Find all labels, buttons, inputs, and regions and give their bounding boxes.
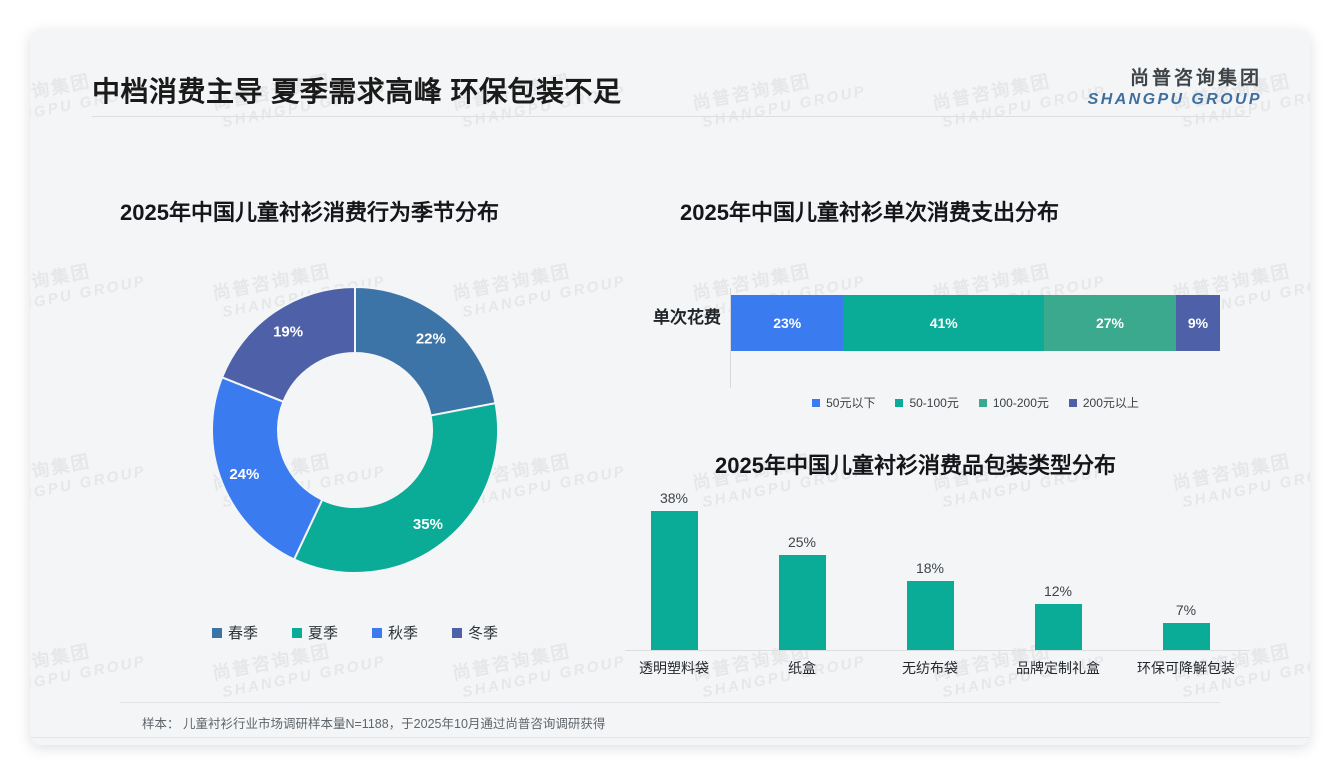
bar-rect[interactable] [1035,604,1082,650]
bar-rect[interactable] [779,555,826,650]
bar-value-label: 7% [1176,602,1196,618]
stacked-bar-segment[interactable]: 23% [731,295,843,351]
page-title: 中档消费主导 夏季需求高峰 环保包装不足 [92,70,622,110]
legend-item[interactable]: 50元以下 [812,394,875,411]
bar-category-label: 环保可降解包装 [1122,658,1250,678]
donut-segment[interactable] [355,287,495,416]
bar-rect[interactable] [907,581,954,650]
legend-label: 200元以上 [1083,394,1139,411]
legend-swatch-icon [212,628,222,638]
stacked-bar-segment[interactable]: 41% [843,295,1043,351]
season-distribution-chart: 2025年中国儿童衬衫消费行为季节分布 22%35%24%19% 春季夏季秋季冬… [90,170,620,670]
bar-column[interactable]: 18% [866,490,994,650]
legend-label: 春季 [228,622,258,643]
bar-rect[interactable] [1163,623,1210,650]
sample-footnote: 样本： 儿童衬衫行业市场调研样本量N=1188，于2025年10月通过尚普咨询调… [142,713,605,732]
slide-canvas: 尚普咨询集团SHANGPU GROUP尚普咨询集团SHANGPU GROUP尚普… [30,30,1310,745]
slide-header: 中档消费主导 夏季需求高峰 环保包装不足 尚普咨询集团 SHANGPU GROU… [30,30,1310,116]
legend-swatch-icon [895,399,903,407]
legend-label: 秋季 [388,622,418,643]
legend-item[interactable]: 秋季 [372,622,418,643]
packaging-chart-axis-line [625,650,1250,651]
donut-segment-label: 22% [416,330,446,347]
bar-column[interactable]: 12% [994,490,1122,650]
header-divider [92,116,1250,117]
legend-swatch-icon [292,628,302,638]
spend-category-label: 单次花费 [625,303,721,328]
legend-item[interactable]: 100-200元 [979,394,1049,411]
bar-column[interactable]: 38% [610,490,738,650]
bar-category-label: 纸盒 [738,658,866,678]
bar-column[interactable]: 7% [1122,490,1250,650]
legend-label: 冬季 [468,622,498,643]
legend-item[interactable]: 50-100元 [895,394,958,411]
packaging-bars-plot: 38%25%18%12%7% [610,490,1250,650]
donut-segment-label: 24% [229,466,259,483]
bar-value-label: 25% [788,534,816,550]
legend-swatch-icon [1069,399,1077,407]
bar-value-label: 18% [916,560,944,576]
legend-item[interactable]: 夏季 [292,622,338,643]
donut-segment-label: 19% [273,324,303,341]
legend-label: 50-100元 [909,394,958,411]
bar-rect[interactable] [651,511,698,650]
bar-category-label: 品牌定制礼盒 [994,658,1122,678]
logo-english-text: SHANGPU GROUP [1088,91,1262,109]
legend-swatch-icon [979,399,987,407]
donut-svg: 22%35%24%19% [210,285,500,575]
bar-value-label: 12% [1044,583,1072,599]
spend-chart-legend: 50元以下50-100元100-200元200元以上 [731,394,1220,411]
bar-category-label: 无纺布袋 [866,658,994,678]
spend-chart-title: 2025年中国儿童衬衫单次消费支出分布 [680,195,1059,227]
spend-distribution-chart: 2025年中国儿童衬衫单次消费支出分布 单次花费 23%41%27%9% 50元… [625,170,1265,430]
legend-item[interactable]: 春季 [212,622,258,643]
logo-chinese-text: 尚普咨询集团 [1088,63,1262,90]
brand-logo: 尚普咨询集团 SHANGPU GROUP [1088,63,1262,109]
donut-segment[interactable] [222,287,355,402]
stacked-bar-segment[interactable]: 27% [1044,295,1176,351]
legend-label: 夏季 [308,622,338,643]
legend-label: 50元以下 [826,394,875,411]
legend-swatch-icon [452,628,462,638]
legend-swatch-icon [812,399,820,407]
footer-divider [30,737,1310,738]
bar-category-label: 透明塑料袋 [610,658,738,678]
packaging-category-labels: 透明塑料袋纸盒无纺布袋品牌定制礼盒环保可降解包装 [610,658,1250,678]
footnote-divider [120,702,1220,703]
bar-value-label: 38% [660,490,688,506]
donut-segment-label: 35% [413,516,443,533]
bar-column[interactable]: 25% [738,490,866,650]
season-chart-legend: 春季夏季秋季冬季 [90,622,620,643]
donut-chart-graphic: 22%35%24%19% [210,285,500,575]
stacked-bar-segment[interactable]: 9% [1176,295,1220,351]
legend-label: 100-200元 [993,394,1049,411]
spend-stacked-bar: 23%41%27%9% [731,295,1220,351]
season-chart-title: 2025年中国儿童衬衫消费行为季节分布 [120,195,499,227]
donut-segment[interactable] [294,403,498,573]
legend-item[interactable]: 冬季 [452,622,498,643]
packaging-chart-title: 2025年中国儿童衬衫消费品包装类型分布 [715,448,1116,480]
legend-item[interactable]: 200元以上 [1069,394,1139,411]
packaging-type-chart: 2025年中国儿童衬衫消费品包装类型分布 38%25%18%12%7% 透明塑料… [625,430,1265,700]
legend-swatch-icon [372,628,382,638]
